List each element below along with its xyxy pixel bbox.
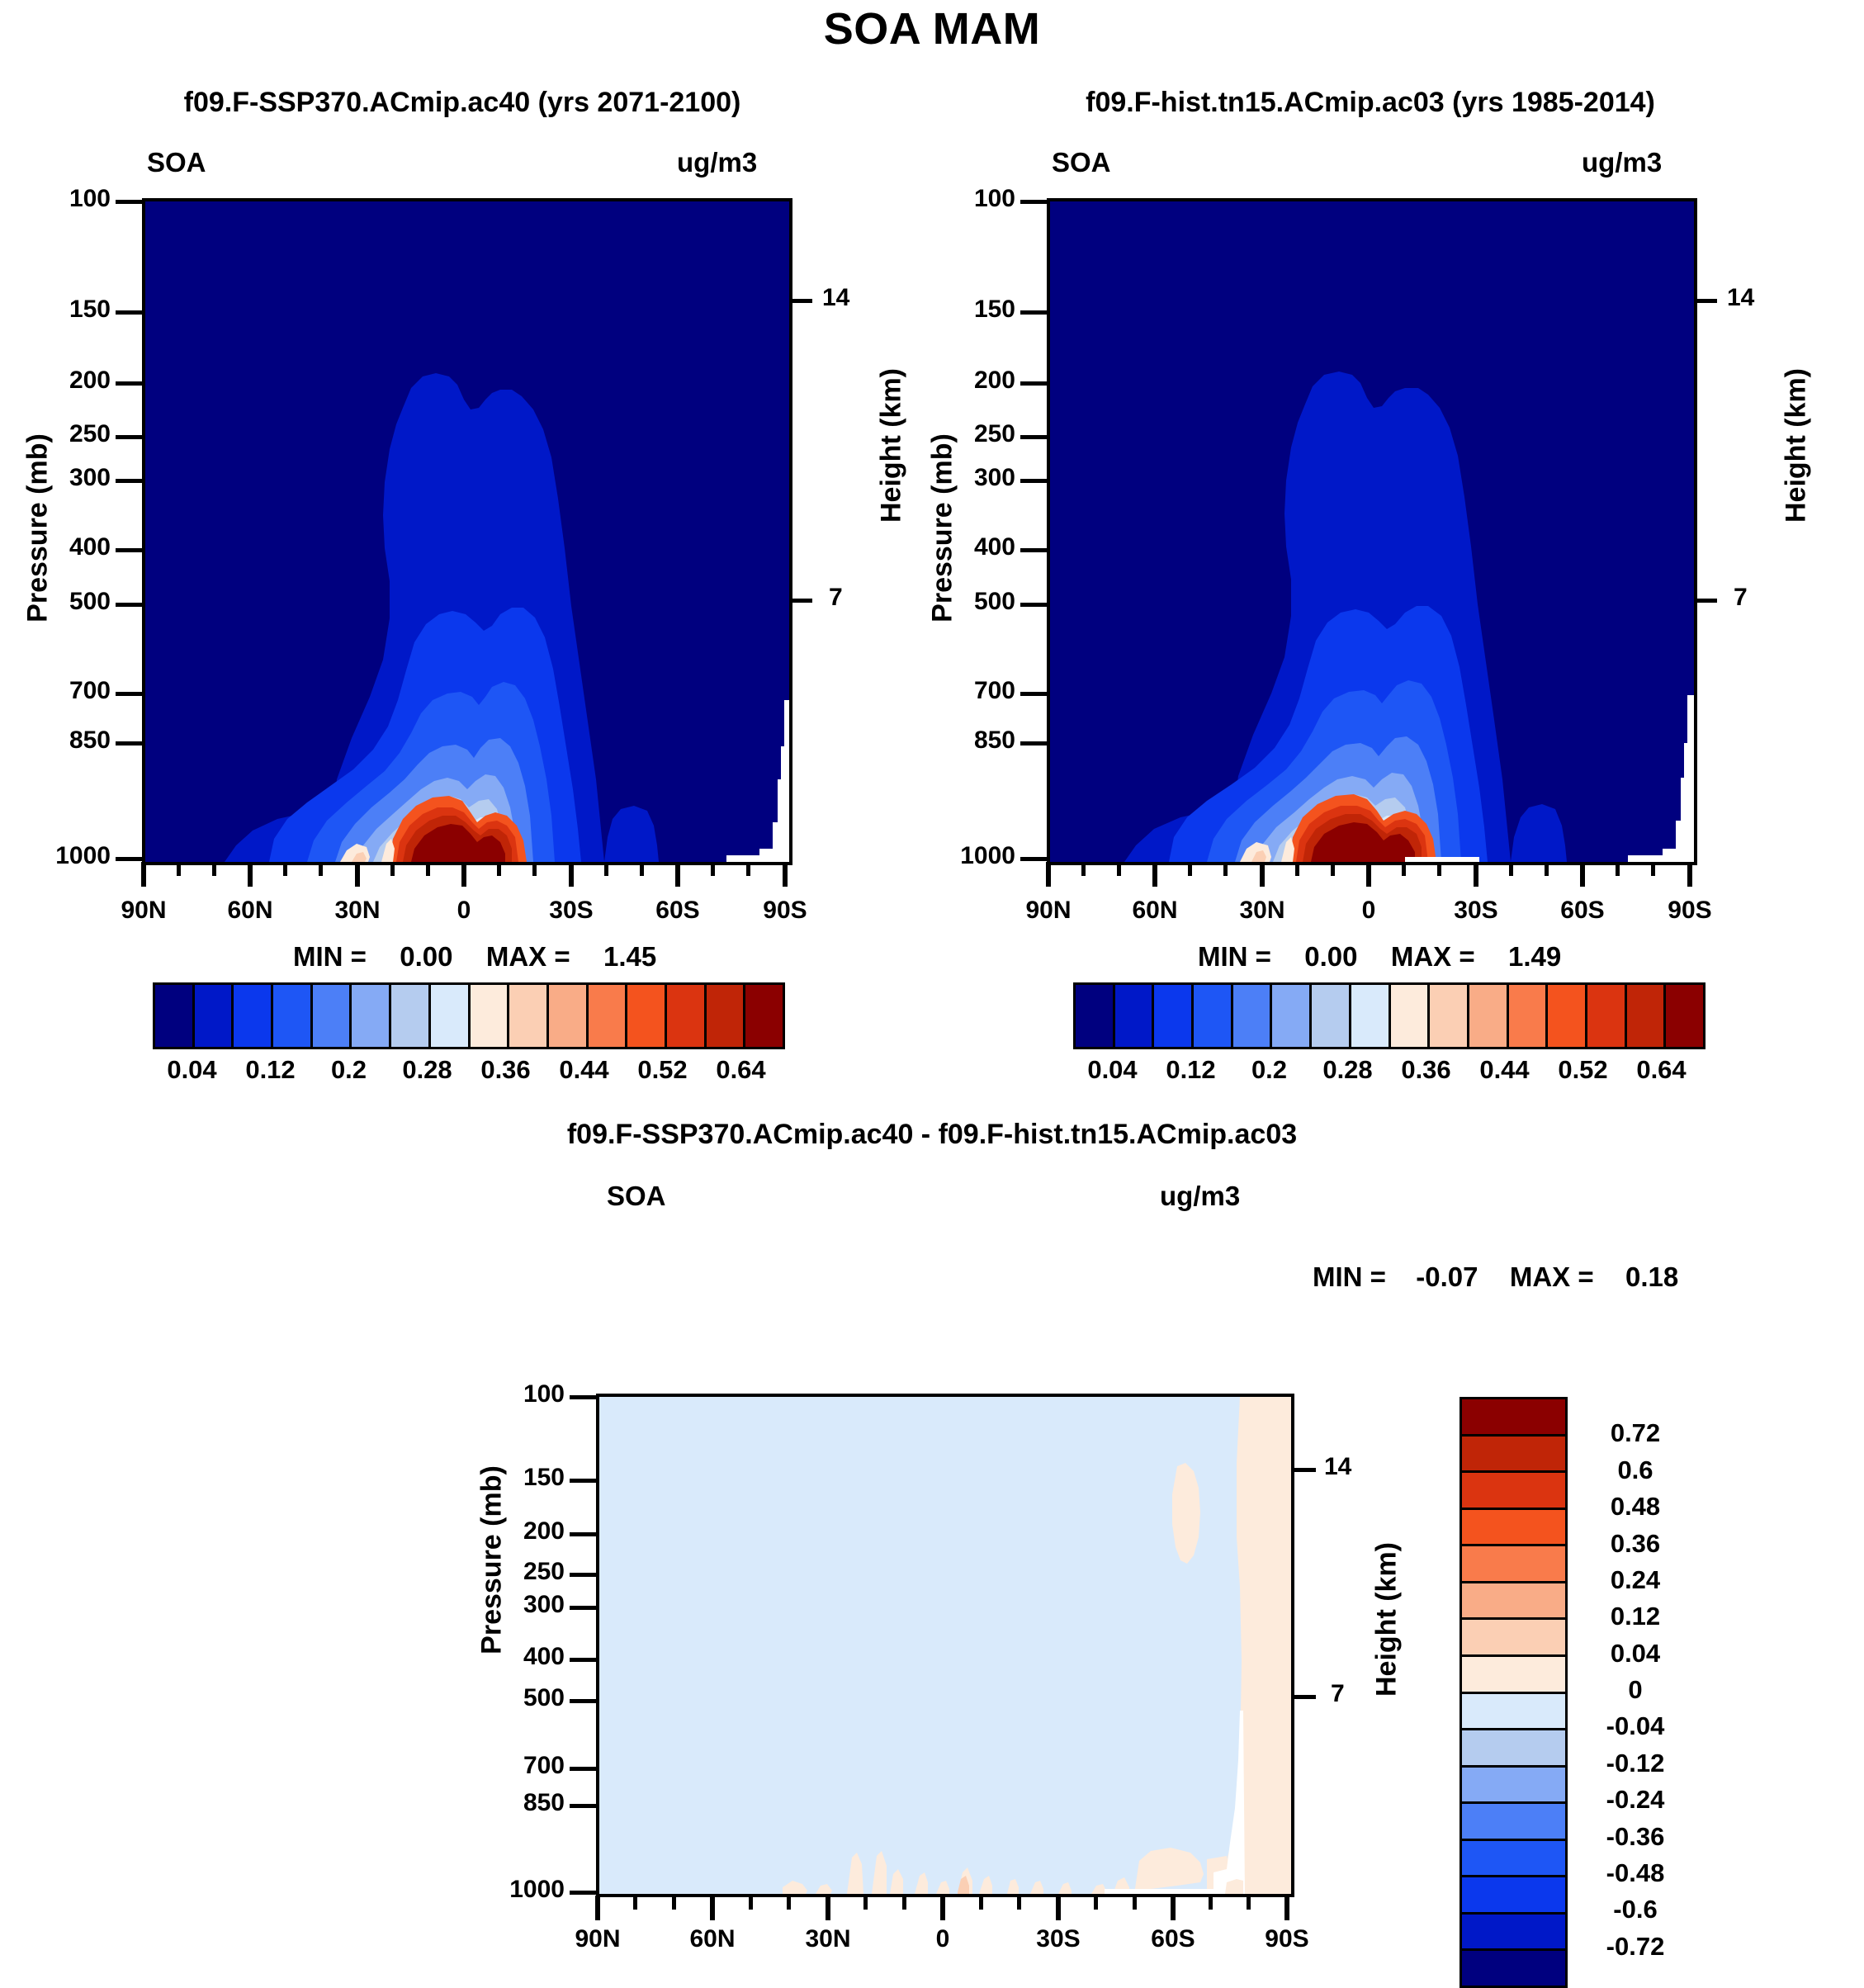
colorbar-tick-label: 0.36 [480, 1055, 530, 1085]
colorbar-swatch [1312, 985, 1351, 1047]
xtick-label-hist: 30N [1227, 897, 1298, 925]
panel-title-hist: f09.F-hist.tn15.ACmip.ac03 (yrs 1985-201… [941, 87, 1800, 119]
colorbar-swatch [1462, 1730, 1565, 1768]
colorbar-tick-label: -0.04 [1573, 1711, 1697, 1741]
xtick-minor-ssp370 [532, 862, 537, 876]
xtick-minor-ssp370 [497, 862, 501, 876]
xtick-minor-ssp370 [426, 862, 430, 876]
colorbar-swatch [391, 985, 431, 1047]
xtick-label-diff: 30S [1023, 1925, 1094, 1953]
units-label-ssp370: ug/m3 [677, 147, 757, 178]
y2-axis-title-diff: Height (km) [1371, 1521, 1403, 1719]
y-axis-title-diff: Pressure (mb) [476, 1453, 509, 1668]
colorbar-swatch [1462, 1473, 1565, 1510]
height-label-ssp370: 7 [829, 584, 843, 612]
colorbar-swatch [1509, 985, 1549, 1047]
ytick-hist [1020, 435, 1047, 439]
units-label-diff: ug/m3 [1160, 1181, 1240, 1212]
xtick-diff [1056, 1896, 1061, 1920]
ytick-hist [1020, 857, 1047, 861]
xtick-ssp370 [783, 862, 788, 887]
xtick-minor-ssp370 [604, 862, 608, 876]
xtick-diff [826, 1896, 830, 1920]
xtick-label-diff: 90S [1251, 1925, 1322, 1953]
xtick-diff [1171, 1896, 1176, 1920]
colorbar-swatch [1076, 985, 1115, 1047]
contour-plot-ssp370 [142, 198, 792, 865]
contour-svg-diff [599, 1397, 1291, 1894]
colorbar-tick-label: 0.44 [1479, 1055, 1529, 1085]
units-label-hist: ug/m3 [1582, 147, 1662, 178]
minmax-hist: MIN = 0.00 MAX = 1.49 [1198, 941, 1561, 973]
xtick-minor-diff [863, 1896, 868, 1910]
xtick-label-ssp370: 60S [642, 897, 713, 925]
colorbar-swatch [1272, 985, 1312, 1047]
ytick-hist [1020, 200, 1047, 204]
ytick-ssp370 [116, 692, 142, 696]
xtick-minor-hist [1188, 862, 1192, 876]
colorbar-swatch [627, 985, 667, 1047]
xtick-ssp370 [141, 862, 146, 887]
xtick-minor-hist [1295, 862, 1299, 876]
xtick-label-ssp370: 30S [536, 897, 607, 925]
colorbar-swatch [1430, 985, 1469, 1047]
ytick-diff [570, 1479, 596, 1483]
y2-axis-title-hist: Height (km) [1781, 347, 1813, 545]
xtick-minor-diff [1209, 1896, 1213, 1910]
xtick-hist [1580, 862, 1585, 887]
xtick-ssp370 [461, 862, 466, 887]
xtick-minor-diff [1094, 1896, 1098, 1910]
colorbar-tick-label: 0.28 [1322, 1055, 1372, 1085]
xtick-label-diff: 30N [792, 1925, 863, 1953]
xtick-hist [1046, 862, 1051, 887]
colorbar-swatch [1462, 1437, 1565, 1474]
ytick-label-hist: 150 [930, 296, 1015, 324]
colorbar-swatch [234, 985, 273, 1047]
colorbar-swatch [745, 985, 783, 1047]
height-label-hist: 7 [1734, 584, 1748, 612]
ytick-ssp370 [116, 381, 142, 386]
colorbar-swatch [1462, 1694, 1565, 1731]
ytick-diff [570, 1395, 596, 1399]
colorbar-swatch [1194, 985, 1233, 1047]
xtick-minor-ssp370 [212, 862, 216, 876]
colorbar-tick-label: 0.12 [1166, 1055, 1215, 1085]
contour-plot-diff [596, 1394, 1294, 1897]
ytick-diff [570, 1606, 596, 1610]
colorbar-tick-label: 0.52 [1558, 1055, 1607, 1085]
contour-svg-ssp370 [145, 201, 789, 862]
max-label-diff: MAX = [1510, 1261, 1594, 1292]
xtick-minor-hist [1509, 862, 1513, 876]
panel-title-diff: f09.F-SSP370.ACmip.ac40 - f09.F-hist.tn1… [395, 1119, 1469, 1151]
xtick-label-hist: 90N [1013, 897, 1084, 925]
height-label-ssp370: 14 [822, 284, 849, 312]
colorbar-tick-label: 0.64 [716, 1055, 765, 1085]
xtick-diff [940, 1896, 945, 1920]
colorbar-labels-diff: 0.720.60.480.360.240.120.040-0.04-0.12-0… [1573, 1397, 1722, 1983]
colorbar-tick-label: 0.12 [245, 1055, 295, 1085]
max-label-ssp370: MAX = [486, 941, 570, 972]
colorbar-swatch [1548, 985, 1587, 1047]
ytick-label-hist: 850 [930, 727, 1015, 755]
ytick-diff [570, 1767, 596, 1771]
max-value-diff: 0.18 [1625, 1261, 1678, 1292]
colorbar-tick-label: 0.72 [1573, 1418, 1697, 1448]
height-tick-diff [1293, 1695, 1316, 1699]
y-axis-title-hist: Pressure (mb) [927, 421, 959, 636]
xtick-minor-hist [1223, 862, 1228, 876]
xtick-label-hist: 90S [1654, 897, 1725, 925]
colorbar-tick-label: 0.04 [1087, 1055, 1137, 1085]
xtick-minor-diff [749, 1896, 753, 1910]
min-label-diff: MIN = [1313, 1261, 1386, 1292]
colorbar-tick-label: 0.36 [1401, 1055, 1450, 1085]
colorbar-tick-label: 0.6 [1573, 1455, 1697, 1485]
ytick-label-ssp370: 200 [25, 367, 111, 395]
xtick-hist [1366, 862, 1371, 887]
colorbar-swatch [1154, 985, 1194, 1047]
colorbar-tick-label: 0.2 [331, 1055, 367, 1085]
height-label-hist: 14 [1727, 284, 1754, 312]
xtick-label-ssp370: 0 [428, 897, 499, 925]
xtick-label-hist: 0 [1333, 897, 1404, 925]
ytick-label-ssp370: 1000 [17, 842, 111, 870]
colorbar-swatch [509, 985, 549, 1047]
xtick-minor-ssp370 [283, 862, 287, 876]
colorbar-swatch [1462, 1510, 1565, 1547]
ytick-label-hist: 100 [930, 185, 1015, 213]
colorbar-swatch [352, 985, 391, 1047]
colorbar-tick-label: 0.12 [1573, 1602, 1697, 1631]
colorbar-tick-label: -0.12 [1573, 1749, 1697, 1778]
max-value-ssp370: 1.45 [603, 941, 656, 972]
height-tick-hist [1694, 299, 1717, 303]
colorbar-swatch [313, 985, 352, 1047]
xtick-hist [1687, 862, 1692, 887]
colorbar-swatch [1469, 985, 1509, 1047]
colorbar-swatch [1462, 1399, 1565, 1437]
xtick-diff [595, 1896, 600, 1920]
variable-label-diff: SOA [607, 1181, 666, 1212]
xtick-minor-diff [902, 1896, 906, 1910]
ytick-label-hist: 200 [930, 367, 1015, 395]
colorbar-tick-label: 0 [1573, 1675, 1697, 1705]
ytick-label-hist: 700 [930, 677, 1015, 705]
colorbar-swatch [1462, 1915, 1565, 1952]
xtick-minor-diff [633, 1896, 637, 1910]
colorbar-swatch [1462, 1583, 1565, 1621]
ytick-label-diff: 1000 [471, 1876, 565, 1904]
xtick-minor-diff [979, 1896, 983, 1910]
colorbar-swatch [431, 985, 471, 1047]
ytick-diff [570, 1804, 596, 1808]
colorbar-tick-label: -0.6 [1573, 1895, 1697, 1924]
xtick-minor-hist [1616, 862, 1620, 876]
min-value-hist: 0.00 [1304, 941, 1357, 972]
xtick-minor-diff [672, 1896, 676, 1910]
colorbar-swatch [1462, 1657, 1565, 1694]
xtick-ssp370 [248, 862, 253, 887]
xtick-minor-diff [787, 1896, 791, 1910]
xtick-label-ssp370: 60N [215, 897, 286, 925]
xtick-diff [1284, 1896, 1289, 1920]
colorbar-tick-label: 0.64 [1636, 1055, 1686, 1085]
xtick-minor-ssp370 [390, 862, 395, 876]
ytick-ssp370 [116, 310, 142, 315]
ytick-ssp370 [116, 603, 142, 607]
ytick-hist [1020, 479, 1047, 483]
colorbar-swatch [471, 985, 510, 1047]
colorbar-labels-hist: 0.040.120.20.280.360.440.520.64 [1073, 1055, 1701, 1088]
colorbar-tick-label: 0.04 [1573, 1639, 1697, 1668]
colorbar-swatch [1351, 985, 1391, 1047]
height-label-diff: 14 [1324, 1453, 1351, 1481]
colorbar-swatch [1115, 985, 1155, 1047]
xtick-ssp370 [675, 862, 680, 887]
colorbar-tick-label: -0.24 [1573, 1785, 1697, 1815]
colorbar-swatch [273, 985, 313, 1047]
colorbar-swatch [155, 985, 195, 1047]
colorbar-swatch [707, 985, 746, 1047]
xtick-minor-ssp370 [711, 862, 715, 876]
min-label-ssp370: MIN = [293, 941, 367, 972]
xtick-label-hist: 30S [1441, 897, 1512, 925]
ytick-ssp370 [116, 548, 142, 552]
contour-svg-hist [1050, 201, 1694, 862]
colorbar-swatch [1587, 985, 1627, 1047]
ytick-ssp370 [116, 200, 142, 204]
colorbar-labels-ssp370: 0.040.120.20.280.360.440.520.64 [153, 1055, 780, 1088]
xtick-minor-hist [1081, 862, 1086, 876]
xtick-minor-hist [1331, 862, 1335, 876]
max-value-hist: 1.49 [1508, 941, 1561, 972]
xtick-minor-hist [1117, 862, 1121, 876]
variable-label-ssp370: SOA [147, 147, 206, 178]
xtick-label-ssp370: 30N [322, 897, 393, 925]
colorbar-tick-label: 0.52 [637, 1055, 687, 1085]
colorbar-tick-label: 0.2 [1251, 1055, 1287, 1085]
colorbar-swatch [1462, 1546, 1565, 1583]
colorbar-swatch [1462, 1620, 1565, 1657]
colorbar-diff [1460, 1397, 1568, 1988]
colorbar-swatch [195, 985, 234, 1047]
colorbar-tick-label: 0.28 [402, 1055, 452, 1085]
height-tick-hist [1694, 599, 1717, 603]
ytick-label-hist: 1000 [921, 842, 1015, 870]
xtick-minor-diff [1133, 1896, 1137, 1910]
xtick-label-ssp370: 90N [108, 897, 179, 925]
xtick-minor-ssp370 [746, 862, 750, 876]
y-axis-title-ssp370: Pressure (mb) [22, 421, 54, 636]
ytick-label-diff: 850 [479, 1789, 565, 1817]
xtick-minor-hist [1545, 862, 1549, 876]
colorbar-swatch [1462, 1768, 1565, 1805]
xtick-ssp370 [355, 862, 360, 887]
ytick-diff [570, 1573, 596, 1577]
xtick-hist [1474, 862, 1478, 887]
xtick-label-diff: 0 [907, 1925, 978, 1953]
xtick-hist [1152, 862, 1157, 887]
ytick-hist [1020, 310, 1047, 315]
colorbar-hist [1073, 982, 1706, 1049]
xtick-minor-hist [1437, 862, 1441, 876]
ytick-label-diff: 500 [479, 1684, 565, 1712]
ytick-diff [570, 1658, 596, 1662]
ytick-ssp370 [116, 741, 142, 745]
colorbar-tick-label: 0.24 [1573, 1565, 1697, 1595]
colorbar-swatch [1233, 985, 1273, 1047]
xtick-diff [710, 1896, 715, 1920]
min-value-diff: -0.07 [1416, 1261, 1478, 1292]
xtick-minor-diff [1017, 1896, 1021, 1910]
ytick-label-diff: 700 [479, 1752, 565, 1780]
colorbar-swatch [549, 985, 589, 1047]
figure-title: SOA MAM [0, 3, 1864, 54]
ytick-hist [1020, 381, 1047, 386]
colorbar-tick-label: -0.72 [1573, 1932, 1697, 1962]
xtick-minor-hist [1651, 862, 1655, 876]
colorbar-swatch [1462, 1877, 1565, 1915]
y2-axis-title-ssp370: Height (km) [876, 347, 908, 545]
colorbar-swatch [667, 985, 707, 1047]
xtick-hist [1260, 862, 1265, 887]
colorbar-tick-label: 0.44 [559, 1055, 608, 1085]
xtick-label-diff: 60N [677, 1925, 748, 1953]
ytick-hist [1020, 741, 1047, 745]
min-value-ssp370: 0.00 [400, 941, 452, 972]
ytick-ssp370 [116, 435, 142, 439]
ytick-diff [570, 1699, 596, 1703]
colorbar-swatch [1462, 1951, 1565, 1986]
xtick-minor-ssp370 [177, 862, 181, 876]
min-label-hist: MIN = [1198, 941, 1271, 972]
ytick-label-ssp370: 150 [25, 296, 111, 324]
ytick-ssp370 [116, 479, 142, 483]
xtick-label-diff: 60S [1138, 1925, 1209, 1953]
height-tick-ssp370 [789, 599, 812, 603]
xtick-label-hist: 60N [1119, 897, 1190, 925]
ytick-diff [570, 1532, 596, 1536]
height-tick-diff [1293, 1468, 1316, 1472]
colorbar-tick-label: 0.04 [167, 1055, 216, 1085]
ytick-label-ssp370: 100 [25, 185, 111, 213]
ytick-ssp370 [116, 857, 142, 861]
ytick-label-ssp370: 700 [25, 677, 111, 705]
colorbar-swatch [1391, 985, 1431, 1047]
colorbar-swatch [1666, 985, 1703, 1047]
height-tick-ssp370 [789, 299, 812, 303]
ytick-hist [1020, 692, 1047, 696]
colorbar-tick-label: -0.36 [1573, 1822, 1697, 1852]
xtick-label-ssp370: 90S [750, 897, 821, 925]
ytick-label-diff: 100 [479, 1380, 565, 1408]
xtick-minor-ssp370 [640, 862, 644, 876]
colorbar-swatch [589, 985, 628, 1047]
max-label-hist: MAX = [1391, 941, 1475, 972]
xtick-ssp370 [569, 862, 574, 887]
ytick-hist [1020, 603, 1047, 607]
variable-label-hist: SOA [1052, 147, 1111, 178]
colorbar-tick-label: 0.48 [1573, 1492, 1697, 1522]
colorbar-tick-label: -0.48 [1573, 1858, 1697, 1888]
minmax-diff: MIN = -0.07 MAX = 0.18 [1313, 1261, 1678, 1293]
ytick-diff [570, 1891, 596, 1895]
xtick-label-diff: 90N [562, 1925, 633, 1953]
contour-plot-hist [1047, 198, 1697, 865]
xtick-label-hist: 60S [1547, 897, 1618, 925]
colorbar-ssp370 [153, 982, 785, 1049]
xtick-minor-hist [1402, 862, 1406, 876]
panel-title-ssp370: f09.F-SSP370.ACmip.ac40 (yrs 2071-2100) [33, 87, 892, 119]
minmax-ssp370: MIN = 0.00 MAX = 1.45 [293, 941, 656, 973]
xtick-minor-ssp370 [319, 862, 323, 876]
colorbar-swatch [1462, 1804, 1565, 1841]
ytick-hist [1020, 548, 1047, 552]
xtick-minor-diff [1247, 1896, 1251, 1910]
colorbar-swatch [1462, 1841, 1565, 1878]
colorbar-swatch [1627, 985, 1667, 1047]
ytick-label-ssp370: 850 [25, 727, 111, 755]
colorbar-tick-label: 0.36 [1573, 1529, 1697, 1559]
height-label-diff: 7 [1331, 1680, 1345, 1708]
